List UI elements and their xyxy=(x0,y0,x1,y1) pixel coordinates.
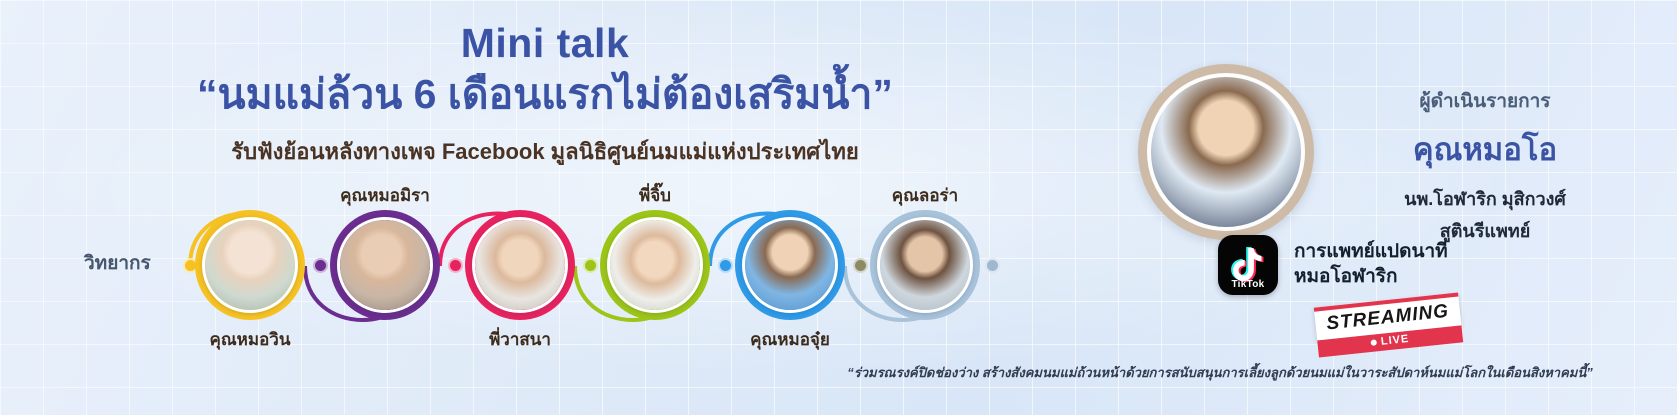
speaker-name: คุณหมอมิรา xyxy=(340,182,430,209)
channel-row[interactable]: TikTok การแพทย์แปดนาที หมอโอฬาริก xyxy=(1218,235,1448,295)
speaker-name: พี่วาสนา xyxy=(489,326,551,353)
speaker-node[interactable]: คุณหมอจุ๋ย xyxy=(735,210,845,320)
timeline-dot xyxy=(853,258,868,273)
headline-quote: “นมแม่ล้วน 6 เดือนแรกไม่ต้องเสริมน้ำ” xyxy=(0,71,1090,118)
channel-name: การแพทย์แปดนาที หมอโอฬาริก xyxy=(1294,240,1448,289)
host-avatar xyxy=(1138,64,1314,240)
timeline-dot xyxy=(583,258,598,273)
speaker-node[interactable]: คุณหมอมิรา xyxy=(330,210,440,320)
host-details: ผู้ดำเนินรายการ คุณหมอโอ นพ.โอฬาริก มุสิ… xyxy=(1320,86,1650,245)
timeline-dot xyxy=(448,258,463,273)
host-role-label: ผู้ดำเนินรายการ xyxy=(1320,86,1650,116)
host-panel: ผู้ดำเนินรายการ คุณหมอโอ นพ.โอฬาริก มุสิ… xyxy=(1120,50,1660,380)
timeline-dot xyxy=(313,258,328,273)
timeline-dot xyxy=(718,258,733,273)
tiktok-icon[interactable]: TikTok xyxy=(1218,235,1278,295)
speaker-name: คุณลอร่า xyxy=(892,182,958,209)
tiktok-wordmark: TikTok xyxy=(1218,279,1278,290)
live-label: LIVE xyxy=(1380,333,1410,348)
bottom-caption: “ร่วมรณรงค์ปิดช่องว่าง สร้างสังคมนมแม่ถ้… xyxy=(780,362,1660,383)
channel-name-line1: การแพทย์แปดนาที xyxy=(1294,240,1448,265)
speaker-node[interactable]: พี่วาสนา xyxy=(465,210,575,320)
speaker-node[interactable]: พี่จิ๊บ xyxy=(600,210,710,320)
webinar-banner: Mini talk “นมแม่ล้วน 6 เดือนแรกไม่ต้องเส… xyxy=(0,0,1677,415)
speaker-node[interactable]: คุณหมอวิน xyxy=(195,210,305,320)
host-fullname: นพ.โอฬาริก มุสิกวงศ์ xyxy=(1320,184,1650,213)
page-title: Mini talk xyxy=(0,22,1090,65)
headline-subtitle: รับฟังย้อนหลังทางเพจ Facebook มูลนิธิศูน… xyxy=(0,134,1090,169)
speaker-node[interactable]: คุณลอร่า xyxy=(870,210,980,320)
speaker-name: คุณหมอวิน xyxy=(210,326,291,353)
timeline-section-label: วิทยากร xyxy=(84,248,151,278)
channel-name-line2: หมอโอฬาริก xyxy=(1294,265,1448,290)
speaker-timeline: วิทยากร คุณหมอวิน คุณห xyxy=(0,178,1090,353)
streaming-badge: STREAMING LIVE xyxy=(1314,293,1463,358)
headline-block: Mini talk “นมแม่ล้วน 6 เดือนแรกไม่ต้องเส… xyxy=(0,0,1090,169)
speaker-name: คุณหมอจุ๋ย xyxy=(750,326,830,353)
live-dot-icon xyxy=(1371,339,1378,346)
timeline-dot xyxy=(985,258,1000,273)
host-nickname: คุณหมอโอ xyxy=(1320,124,1650,174)
speaker-name: พี่จิ๊บ xyxy=(639,182,671,209)
